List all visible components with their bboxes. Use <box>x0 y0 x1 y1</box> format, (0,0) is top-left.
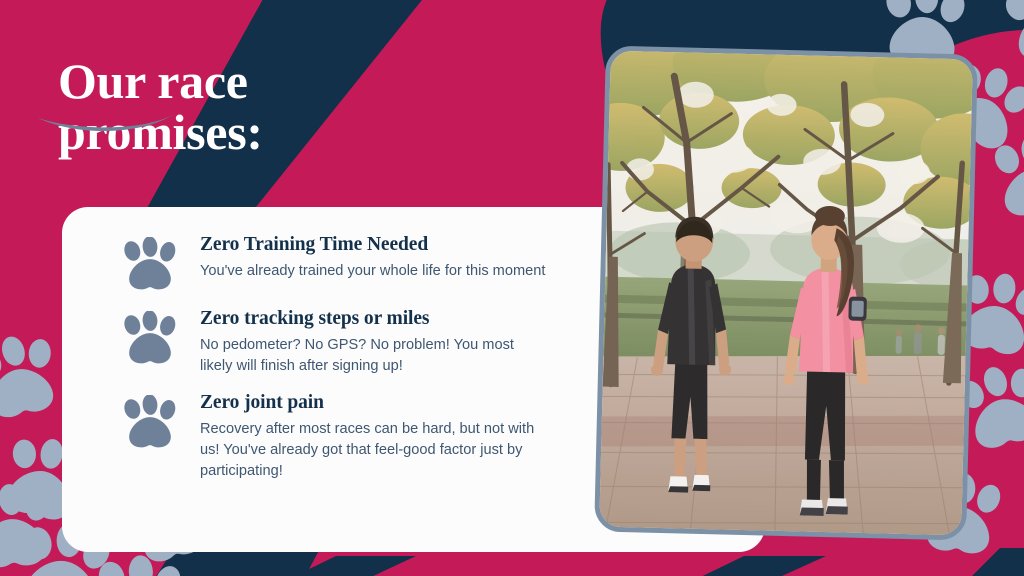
paw-icon <box>122 237 178 293</box>
list-item-description: Recovery after most races can be hard, b… <box>200 419 550 482</box>
paw-icon <box>122 311 178 367</box>
paw-icon-wrap <box>108 391 192 451</box>
list-item-description: You've already trained your whole life f… <box>200 261 550 282</box>
paw-icon-wrap <box>108 307 192 367</box>
walkers-in-park-photo <box>594 46 978 541</box>
list-item-description: No pedometer? No GPS? No problem! You mo… <box>200 335 550 377</box>
swoosh-underline-icon <box>36 110 176 140</box>
paw-icon-wrap <box>108 233 192 293</box>
slide-canvas: Our race promises: <box>0 0 1024 576</box>
page-title: Our race promises: <box>58 56 478 158</box>
page-title-line-1: Our race <box>58 56 478 107</box>
paw-icon <box>122 395 178 451</box>
photo-frame <box>594 46 978 541</box>
